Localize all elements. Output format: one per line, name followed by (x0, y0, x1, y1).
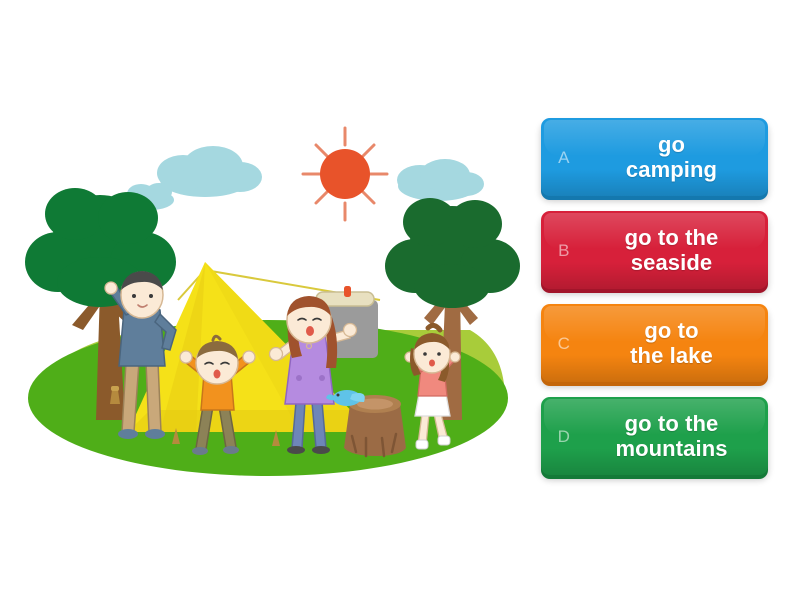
cloud-left-large-icon (157, 146, 262, 197)
illustration-panel (0, 0, 520, 600)
answer-option-a[interactable]: A go camping (541, 118, 768, 196)
answer-option-c[interactable]: C go to the lake (541, 304, 768, 382)
cloud-right-icon (397, 159, 484, 201)
answer-options-list: A go camping B go to the seaside C go to… (541, 118, 770, 482)
answer-letter-a: A (541, 149, 587, 166)
sun-icon (303, 128, 387, 220)
answer-text-d: go to the mountains (587, 411, 768, 461)
answer-letter-b: B (541, 242, 587, 259)
answer-option-b[interactable]: B go to the seaside (541, 211, 768, 289)
answer-text-b: go to the seaside (587, 225, 768, 275)
camp-lantern (110, 386, 120, 404)
family-camping-illustration (0, 0, 520, 600)
answer-letter-d: D (541, 428, 587, 445)
answer-text-c: go to the lake (587, 318, 768, 368)
answer-letter-c: C (541, 335, 587, 352)
answer-option-d[interactable]: D go to the mountains (541, 397, 768, 475)
quiz-slide: A go camping B go to the seaside C go to… (0, 0, 800, 600)
answer-text-a: go camping (587, 132, 768, 182)
